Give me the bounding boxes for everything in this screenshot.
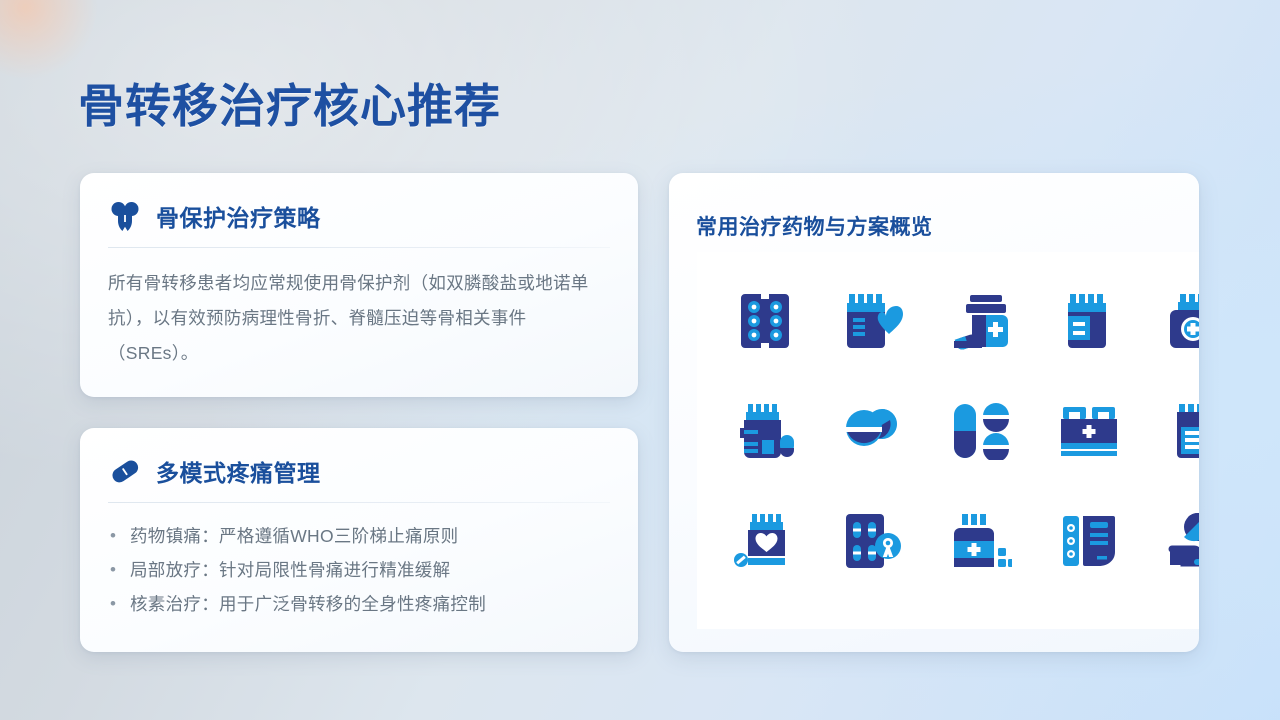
card-header: 多模式疼痛管理 [80, 428, 638, 488]
pill-jar-icon [1035, 266, 1143, 376]
blister-pack-ribbon-icon [819, 486, 927, 596]
hand-holding-pill-icon [1143, 486, 1199, 596]
page-title: 骨转移治疗核心推荐 [78, 70, 501, 136]
bottle-with-pill-icon [711, 376, 819, 486]
card-bone-protection[interactable]: 骨保护治疗策略 所有骨转移患者均应常规使用骨保护剂（如双膦酸盐或地诺单抗），以有… [80, 173, 638, 397]
blister-pack-icon [711, 266, 819, 376]
bone-icon [108, 199, 142, 233]
card-pain-management[interactable]: 多模式疼痛管理 药物镇痛：严格遵循WHO三阶梯止痛原则 局部放疗：针对局限性骨痛… [80, 428, 638, 652]
list-item: 药物镇痛：严格遵循WHO三阶梯止痛原则 [110, 519, 614, 553]
card-title: 多模式疼痛管理 [156, 454, 321, 488]
bottle-cross-badge-icon [1143, 266, 1199, 376]
medicine-bottle-cross-capsule-icon [927, 266, 1035, 376]
card-drug-overview[interactable]: 常用治疗药物与方案概览 [669, 173, 1199, 652]
pill-organizer-icon [1035, 486, 1143, 596]
list-item: 核素治疗：用于广泛骨转移的全身性疼痛控制 [110, 587, 614, 621]
right-panel-title: 常用治疗药物与方案概览 [696, 211, 933, 241]
card-body-text: 所有骨转移患者均应常规使用骨保护剂（如双膦酸盐或地诺单抗），以有效预防病理性骨折… [80, 248, 638, 371]
first-aid-kit-icon [1035, 376, 1143, 486]
cross-bottle-tablets-icon [927, 486, 1035, 596]
card-title: 骨保护治疗策略 [156, 199, 321, 233]
slide-root: 骨转移治疗核心推荐 骨保护治疗策略 所有骨转移患者均应常规使用骨保护剂（如双膦酸… [0, 0, 1280, 720]
heart-supplement-bottle-icon [711, 486, 819, 596]
pill-bottle-heart-icon [819, 266, 927, 376]
capsule-pill-icon [108, 454, 142, 488]
capsule-and-tablets-icon [927, 376, 1035, 486]
list-item: 局部放疗：针对局限性骨痛进行精准缓解 [110, 553, 614, 587]
labeled-bottle-icon [1143, 376, 1199, 486]
card-header: 骨保护治疗策略 [80, 173, 638, 233]
round-tablets-icon [819, 376, 927, 486]
icon-gallery [697, 252, 1199, 629]
bullet-list: 药物镇痛：严格遵循WHO三阶梯止痛原则 局部放疗：针对局限性骨痛进行精准缓解 核… [80, 503, 638, 621]
